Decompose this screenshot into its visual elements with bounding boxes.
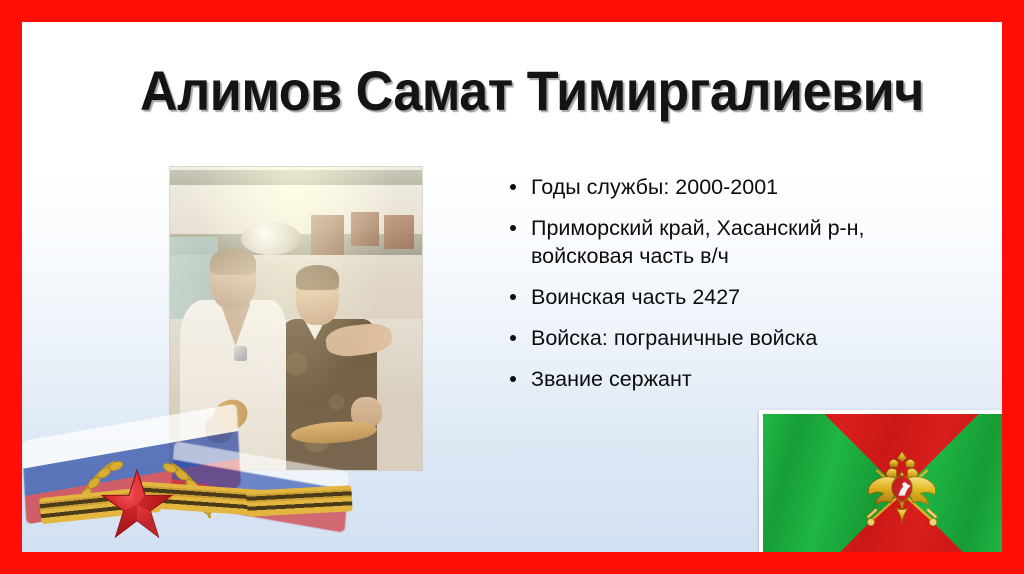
st-george-ribbon-icon <box>39 486 161 524</box>
bullet-text: Приморский край, Хасанский р-н, войскова… <box>531 216 865 268</box>
bullet-text: Звание сержант <box>531 367 692 391</box>
photo-pendant <box>234 346 247 361</box>
photo-person-left-hair <box>210 249 255 275</box>
photo-bowl <box>241 222 301 255</box>
bullet-text: Войска: пограничные войска <box>531 326 817 350</box>
soldier-photo <box>170 167 422 470</box>
border-guard-flag <box>759 410 1002 552</box>
photo-box-1 <box>311 215 344 254</box>
list-item: Годы службы: 2000-2001 <box>508 174 948 202</box>
slide-content-area: Алимов Самат Тимиргалиевич <box>22 22 1002 552</box>
bullet-dot-icon <box>510 225 516 231</box>
bullet-dot-icon <box>510 376 516 382</box>
st-george-ribbon-icon <box>246 485 352 516</box>
bullet-dot-icon <box>510 184 516 190</box>
photo-scene <box>170 167 422 470</box>
bullet-dot-icon <box>510 294 516 300</box>
page-title: Алимов Самат Тимиргалиевич <box>140 62 884 121</box>
flag-cloth-shading <box>763 414 1002 552</box>
slide: Алимов Самат Тимиргалиевич <box>0 0 1024 574</box>
list-item: Звание сержант <box>508 366 948 394</box>
list-item: Воинская часть 2427 <box>508 284 948 312</box>
bullet-text: Годы службы: 2000-2001 <box>531 175 778 199</box>
bullet-dot-icon <box>510 335 516 341</box>
flag-field <box>763 414 1002 552</box>
list-item: Приморский край, Хасанский р-н, войскова… <box>508 215 948 271</box>
photo-box-3 <box>384 215 414 248</box>
photo-person-right-hair <box>296 265 339 289</box>
bullet-text: Воинская часть 2427 <box>531 285 740 309</box>
info-bullet-list: Годы службы: 2000-2001 Приморский край, … <box>508 174 948 407</box>
photo-box-2 <box>351 212 379 245</box>
photo-upper-shelf <box>170 170 422 185</box>
list-item: Войска: пограничные войска <box>508 325 948 353</box>
st-george-ribbon-icon <box>139 481 270 516</box>
red-star-icon <box>100 468 174 542</box>
